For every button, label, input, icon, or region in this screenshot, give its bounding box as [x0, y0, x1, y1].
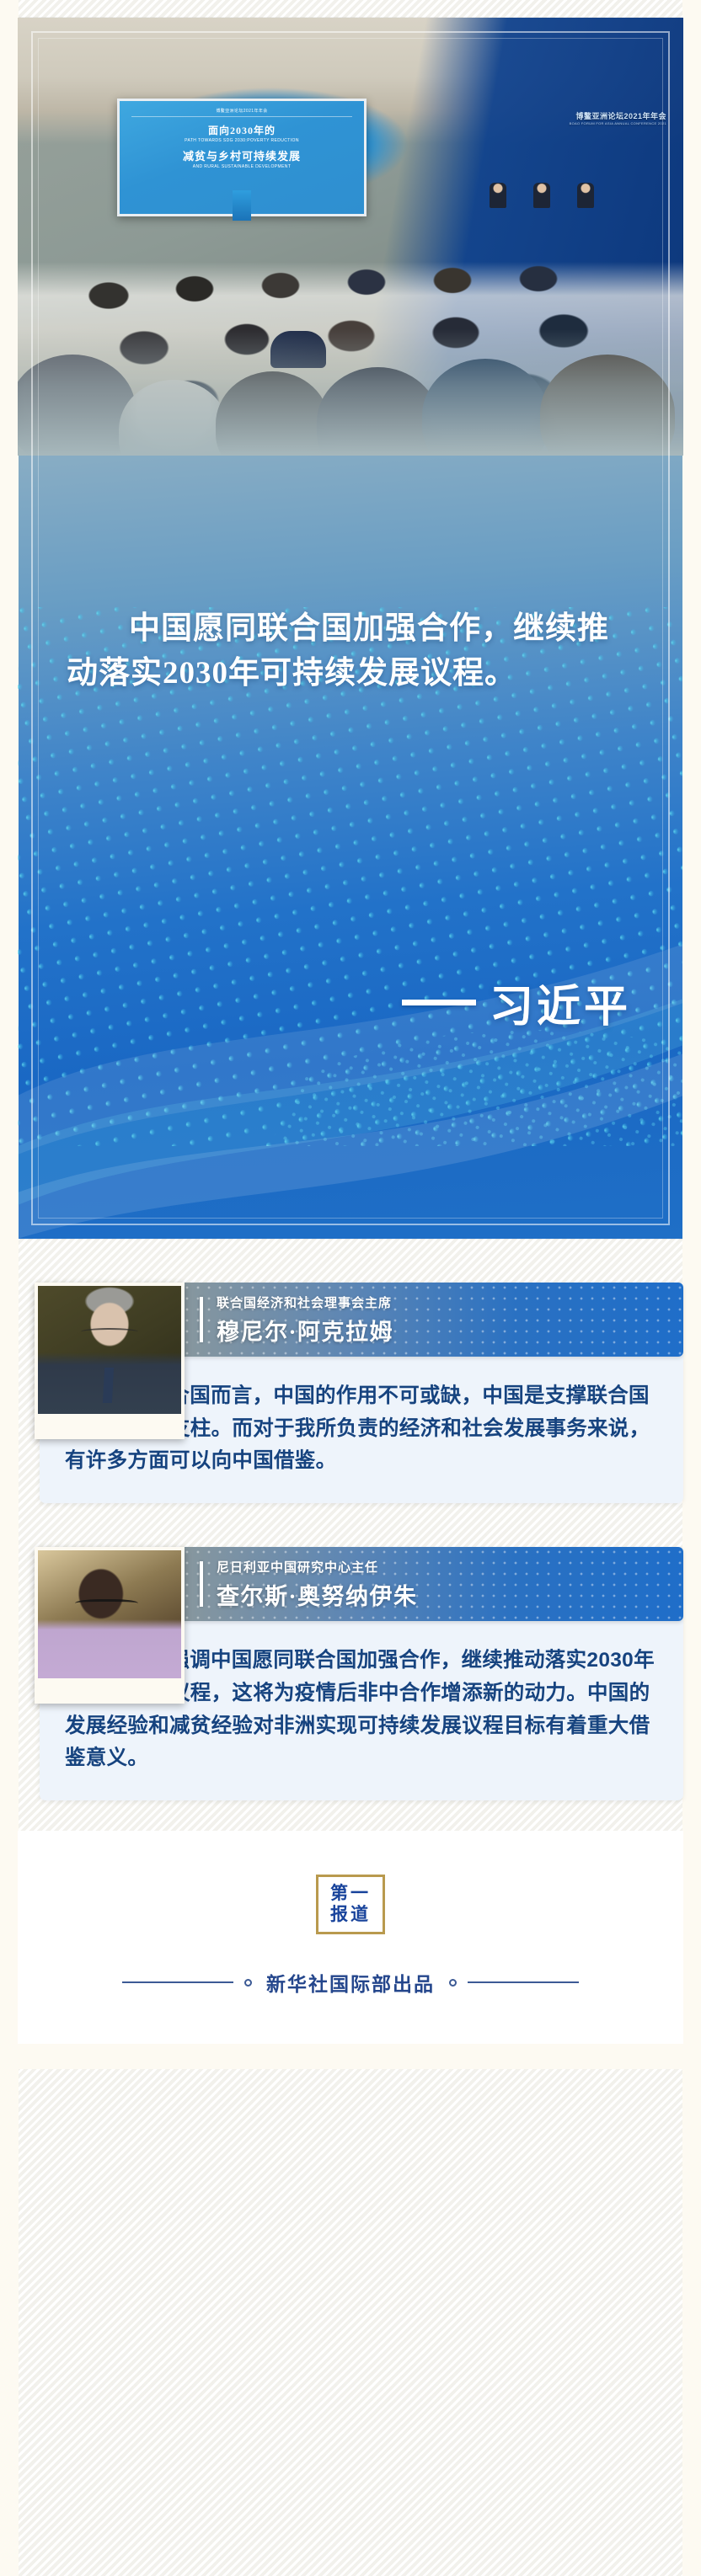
screen-line-1: 面向2030年的 — [120, 123, 364, 137]
banner-accent-bar — [200, 1297, 203, 1342]
attribution-name: 习近平 — [490, 971, 631, 1034]
portrait-charles-onunaiju — [35, 1547, 185, 1704]
page-bottom-spacer — [0, 2044, 701, 2069]
portrait-caption-strip — [38, 1678, 181, 1700]
stage-backdrop-logo: 博鳌亚洲论坛2021年年会 BOAO FORUM FOR ASIA ANNUAL… — [570, 112, 666, 125]
byline: 新华社国际部出品 — [18, 1968, 683, 1997]
banner-accent-bar — [200, 1561, 203, 1607]
panelist-3 — [577, 183, 594, 208]
speaker-card: 尼日利亚中国研究中心主任 查尔斯·奥努纳伊朱 习主席强调中国愿同联合国加强合作，… — [18, 1547, 683, 1800]
screen-line-4: AND RURAL SUSTAINABLE DEVELOPMENT — [120, 164, 364, 169]
panelist-1 — [490, 183, 506, 208]
photo-gradient-fade — [18, 329, 683, 456]
hero-poster: 博鳌亚洲论坛2021年年会 面向2030年的 PATH TOWARDS SDG … — [18, 18, 683, 1239]
byline-dot-left-icon — [244, 1979, 252, 1987]
stage-podium — [233, 190, 251, 221]
speaker-role: 联合国经济和社会理事会主席 — [217, 1293, 393, 1311]
speaker-identity: 尼日利亚中国研究中心主任 查尔斯·奥努纳伊朱 — [217, 1558, 418, 1611]
screen-header-text: 博鳌亚洲论坛2021年年会 — [131, 108, 352, 117]
byline-dot-right-icon — [449, 1979, 457, 1987]
quote-attribution: 习近平 — [402, 971, 631, 1034]
byline-rule-right — [468, 1981, 579, 1983]
speaker-quotes-section: 联合国经济和社会理事会主席 穆尼尔·阿克拉姆 对于联合国而言，中国的作用不可或缺… — [18, 1283, 683, 1831]
badge-line-1: 第一 — [330, 1883, 371, 1904]
conference-hall-photo: 博鳌亚洲论坛2021年年会 面向2030年的 PATH TOWARDS SDG … — [18, 18, 683, 456]
main-quote-text: 中国愿同联合国加强合作，继续推动落实2030年可持续发展议程。 — [67, 607, 636, 696]
portrait-photo — [38, 1286, 181, 1414]
speaker-name: 穆尼尔·阿克拉姆 — [217, 1314, 393, 1347]
backdrop-subtitle: BOAO FORUM FOR ASIA ANNUAL CONFERENCE 20… — [570, 121, 666, 125]
portrait-caption-strip — [38, 1414, 181, 1436]
program-badge: 第一 报道 — [316, 1875, 385, 1935]
byline-text: 新华社国际部出品 — [266, 1968, 435, 1997]
byline-rule-left — [122, 1981, 233, 1983]
screen-line-3: 减贫与乡村可持续发展 — [120, 147, 364, 163]
poster-page: 博鳌亚洲论坛2021年年会 面向2030年的 PATH TOWARDS SDG … — [0, 0, 701, 2576]
portrait-munir-akram — [35, 1283, 185, 1439]
panelist-2 — [533, 183, 550, 208]
portrait-photo — [38, 1550, 181, 1678]
speaker-role: 尼日利亚中国研究中心主任 — [217, 1558, 418, 1576]
footer: 第一 报道 新华社国际部出品 — [18, 1831, 683, 2045]
speaker-identity: 联合国经济和社会理事会主席 穆尼尔·阿克拉姆 — [217, 1293, 393, 1347]
backdrop-title: 博鳌亚洲论坛2021年年会 — [570, 112, 666, 121]
speaker-name: 查尔斯·奥努纳伊朱 — [217, 1578, 418, 1611]
screen-line-2: PATH TOWARDS SDG 2030:POVERTY REDUCTION — [120, 138, 364, 143]
speaker-card: 联合国经济和社会理事会主席 穆尼尔·阿克拉姆 对于联合国而言，中国的作用不可或缺… — [18, 1283, 683, 1503]
attribution-dash-icon — [402, 1000, 476, 1005]
badge-line-2: 报道 — [330, 1904, 371, 1925]
